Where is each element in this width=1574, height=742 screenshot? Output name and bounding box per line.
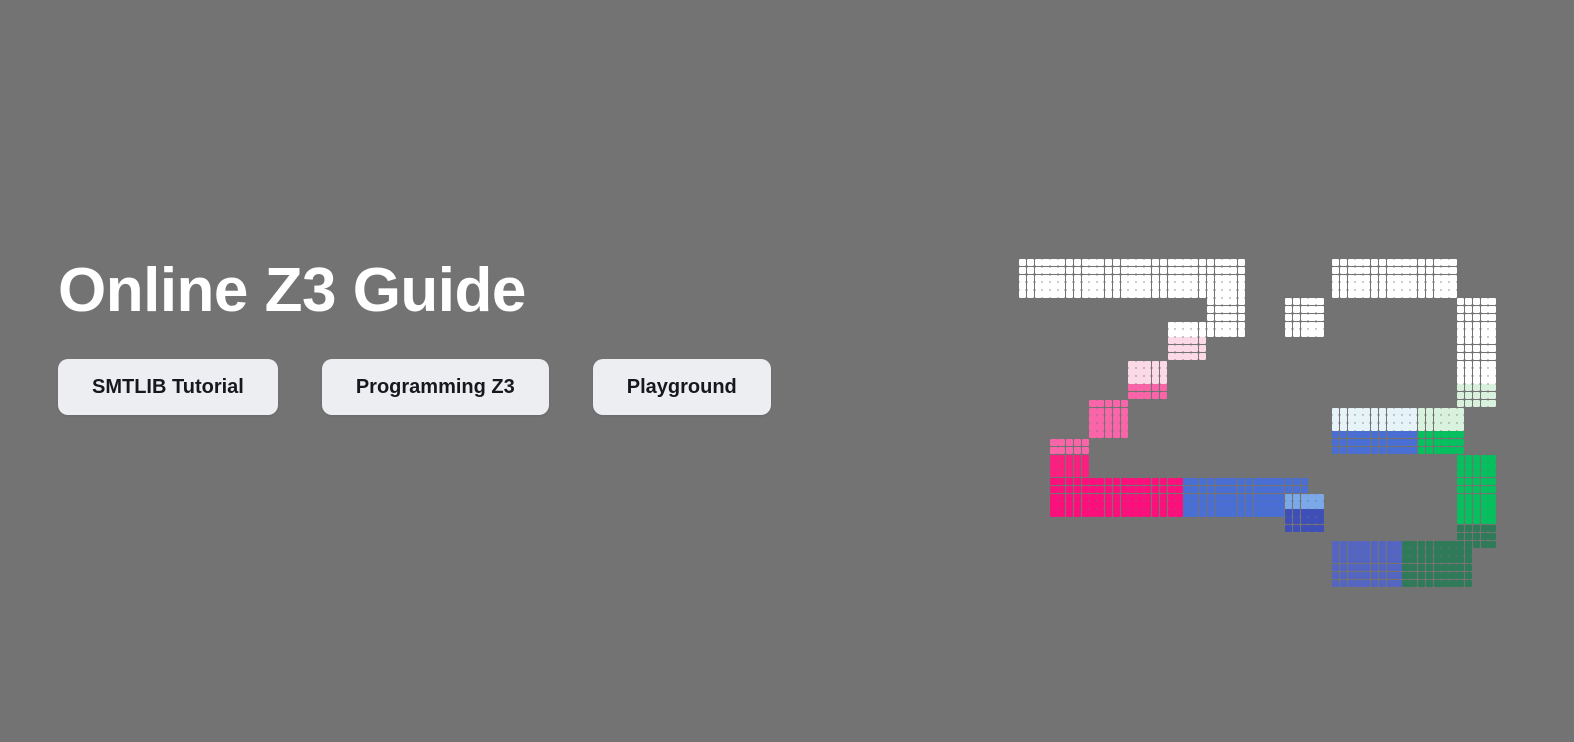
logo-cell — [1426, 580, 1433, 587]
logo-cell — [1058, 259, 1065, 266]
logo-cell — [1074, 455, 1081, 462]
logo-cell — [1449, 447, 1456, 454]
logo-cell — [1488, 322, 1495, 329]
logo-cell — [1441, 282, 1448, 289]
logo-cell — [1121, 290, 1128, 297]
logo-cell — [1371, 275, 1378, 282]
hero-text-column: Online Z3 Guide SMTLIB Tutorial Programm… — [58, 258, 958, 415]
logo-cell — [1465, 470, 1472, 477]
logo-cell — [1074, 501, 1081, 508]
logo-cell — [1128, 478, 1135, 485]
logo-cell — [1473, 400, 1480, 407]
logo-cell — [1199, 275, 1206, 282]
logo-cell — [1418, 541, 1425, 548]
logo-cell — [1410, 259, 1417, 266]
logo-cell — [1027, 282, 1034, 289]
logo-cell — [1222, 275, 1229, 282]
logo-cell — [1394, 564, 1401, 571]
logo-cell — [1410, 267, 1417, 274]
logo-cell — [1348, 290, 1355, 297]
logo-cell — [1215, 509, 1222, 516]
logo-cell — [1019, 275, 1026, 282]
logo-cell — [1113, 423, 1120, 430]
logo-cell — [1434, 548, 1441, 555]
logo-cell — [1238, 306, 1245, 313]
smtlib-tutorial-button[interactable]: SMTLIB Tutorial — [58, 359, 278, 415]
logo-cell — [1434, 282, 1441, 289]
logo-cell — [1465, 298, 1472, 305]
logo-cell — [1481, 470, 1488, 477]
logo-cell — [1465, 572, 1472, 579]
logo-cell — [1387, 447, 1394, 454]
logo-cell — [1144, 267, 1151, 274]
logo-cell — [1238, 267, 1245, 274]
logo-cell — [1402, 541, 1409, 548]
logo-cell — [1426, 564, 1433, 571]
logo-cell — [1465, 329, 1472, 336]
logo-cell — [1457, 509, 1464, 516]
logo-cell — [1394, 275, 1401, 282]
logo-cell — [1481, 509, 1488, 516]
logo-cell — [1136, 478, 1143, 485]
logo-cell — [1418, 275, 1425, 282]
logo-cell — [1481, 361, 1488, 368]
logo-cell — [1465, 478, 1472, 485]
logo-cell — [1410, 282, 1417, 289]
logo-cell — [1019, 290, 1026, 297]
logo-cell — [1128, 384, 1135, 391]
logo-cell — [1168, 345, 1175, 352]
logo-cell — [1121, 478, 1128, 485]
logo-cell — [1152, 275, 1159, 282]
logo-cell — [1449, 408, 1456, 415]
logo-cell — [1074, 290, 1081, 297]
logo-cell — [1355, 548, 1362, 555]
logo-cell — [1332, 290, 1339, 297]
logo-cell — [1379, 423, 1386, 430]
logo-cell — [1191, 322, 1198, 329]
logo-cell — [1097, 275, 1104, 282]
logo-cell — [1340, 259, 1347, 266]
logo-cell — [1355, 447, 1362, 454]
logo-cell — [1128, 275, 1135, 282]
logo-cell — [1160, 290, 1167, 297]
logo-cell — [1441, 541, 1448, 548]
logo-cell — [1402, 548, 1409, 555]
logo-cell — [1363, 548, 1370, 555]
logo-cell — [1457, 455, 1464, 462]
logo-cell — [1082, 439, 1089, 446]
logo-cell — [1230, 314, 1237, 321]
logo-cell — [1105, 275, 1112, 282]
logo-cell — [1371, 541, 1378, 548]
logo-cell — [1363, 556, 1370, 563]
logo-cell — [1332, 541, 1339, 548]
logo-cell — [1457, 368, 1464, 375]
logo-cell — [1426, 290, 1433, 297]
logo-cell — [1066, 447, 1073, 454]
logo-cell — [1457, 384, 1464, 391]
logo-cell — [1402, 259, 1409, 266]
logo-cell — [1355, 556, 1362, 563]
logo-cell — [1488, 376, 1495, 383]
logo-cell — [1175, 290, 1182, 297]
logo-cell — [1144, 486, 1151, 493]
logo-cell — [1426, 431, 1433, 438]
logo-cell — [1371, 259, 1378, 266]
logo-cell — [1410, 447, 1417, 454]
logo-cell — [1481, 322, 1488, 329]
logo-cell — [1387, 431, 1394, 438]
logo-cell — [1457, 541, 1464, 548]
logo-cell — [1316, 509, 1323, 516]
logo-cell — [1473, 298, 1480, 305]
logo-cell — [1379, 431, 1386, 438]
logo-cell — [1488, 455, 1495, 462]
logo-cell — [1441, 572, 1448, 579]
logo-cell — [1113, 290, 1120, 297]
logo-cell — [1191, 337, 1198, 344]
logo-cell — [1308, 501, 1315, 508]
logo-cell — [1082, 462, 1089, 469]
logo-cell — [1074, 259, 1081, 266]
logo-cell — [1340, 556, 1347, 563]
logo-cell — [1160, 392, 1167, 399]
logo-cell — [1441, 267, 1448, 274]
logo-cell — [1473, 353, 1480, 360]
logo-cell — [1371, 548, 1378, 555]
logo-cell — [1121, 501, 1128, 508]
logo-cell — [1168, 478, 1175, 485]
logo-cell — [1097, 486, 1104, 493]
logo-cell — [1183, 509, 1190, 516]
logo-cell — [1191, 259, 1198, 266]
logo-cell — [1035, 267, 1042, 274]
logo-cell — [1332, 282, 1339, 289]
logo-cell — [1050, 494, 1057, 501]
logo-cell — [1441, 580, 1448, 587]
logo-cell — [1348, 580, 1355, 587]
logo-cell — [1449, 572, 1456, 579]
logo-cell — [1082, 282, 1089, 289]
logo-cell — [1222, 494, 1229, 501]
logo-cell — [1066, 501, 1073, 508]
logo-cell — [1050, 259, 1057, 266]
logo-cell — [1488, 314, 1495, 321]
logo-cell — [1348, 572, 1355, 579]
logo-cell — [1066, 259, 1073, 266]
logo-cell — [1402, 439, 1409, 446]
logo-cell — [1418, 267, 1425, 274]
logo-cell — [1097, 478, 1104, 485]
logo-cell — [1136, 501, 1143, 508]
logo-cell — [1238, 290, 1245, 297]
logo-cell — [1254, 494, 1261, 501]
logo-cell — [1387, 259, 1394, 266]
logo-cell — [1027, 275, 1034, 282]
logo-cell — [1465, 517, 1472, 524]
logo-cell — [1481, 306, 1488, 313]
logo-cell — [1238, 275, 1245, 282]
logo-cell — [1183, 501, 1190, 508]
logo-cell — [1301, 314, 1308, 321]
logo-cell — [1316, 517, 1323, 524]
logo-cell — [1066, 509, 1073, 516]
logo-cell — [1465, 376, 1472, 383]
logo-cell — [1175, 494, 1182, 501]
logo-cell — [1457, 314, 1464, 321]
logo-cell — [1128, 259, 1135, 266]
logo-cell — [1465, 556, 1472, 563]
logo-cell — [1363, 267, 1370, 274]
logo-cell — [1418, 564, 1425, 571]
logo-cell — [1168, 353, 1175, 360]
logo-cell — [1410, 415, 1417, 422]
logo-cell — [1363, 408, 1370, 415]
logo-cell — [1348, 267, 1355, 274]
logo-glyph-3 — [1285, 259, 1512, 587]
logo-cell — [1340, 548, 1347, 555]
logo-cell — [1113, 267, 1120, 274]
logo-cell — [1113, 509, 1120, 516]
logo-cell — [1230, 486, 1237, 493]
logo-cell — [1168, 259, 1175, 266]
logo-cell — [1355, 423, 1362, 430]
logo-cell — [1207, 329, 1214, 336]
logo-cell — [1402, 290, 1409, 297]
logo-cell — [1308, 509, 1315, 516]
logo-cell — [1473, 345, 1480, 352]
logo-cell — [1308, 298, 1315, 305]
logo-cell — [1105, 494, 1112, 501]
logo-cell — [1144, 478, 1151, 485]
logo-cell — [1387, 408, 1394, 415]
logo-cell — [1434, 447, 1441, 454]
logo-cell — [1426, 541, 1433, 548]
logo-cell — [1418, 580, 1425, 587]
logo-cell — [1481, 392, 1488, 399]
logo-cell — [1387, 580, 1394, 587]
logo-cell — [1488, 384, 1495, 391]
logo-cell — [1082, 259, 1089, 266]
logo-cell — [1332, 556, 1339, 563]
logo-cell — [1340, 541, 1347, 548]
logo-cell — [1332, 267, 1339, 274]
logo-cell — [1097, 494, 1104, 501]
logo-cell — [1058, 439, 1065, 446]
logo-cell — [1465, 541, 1472, 548]
logo-cell — [1332, 580, 1339, 587]
logo-cell — [1340, 572, 1347, 579]
logo-cell — [1426, 423, 1433, 430]
playground-button[interactable]: Playground — [593, 359, 771, 415]
logo-cell — [1168, 267, 1175, 274]
programming-z3-button[interactable]: Programming Z3 — [322, 359, 549, 415]
logo-cell — [1238, 282, 1245, 289]
logo-cell — [1207, 501, 1214, 508]
logo-cell — [1387, 267, 1394, 274]
logo-cell — [1363, 423, 1370, 430]
logo-cell — [1207, 322, 1214, 329]
logo-cell — [1457, 470, 1464, 477]
logo-cell — [1481, 462, 1488, 469]
logo-cell — [1121, 431, 1128, 438]
logo-cell — [1074, 509, 1081, 516]
logo-cell — [1332, 415, 1339, 422]
logo-cell — [1301, 525, 1308, 532]
logo-cell — [1254, 509, 1261, 516]
logo-cell — [1340, 267, 1347, 274]
logo-cell — [1473, 470, 1480, 477]
logo-cell — [1379, 541, 1386, 548]
logo-cell — [1199, 486, 1206, 493]
logo-cell — [1363, 415, 1370, 422]
logo-cell — [1457, 400, 1464, 407]
logo-cell — [1371, 267, 1378, 274]
logo-cell — [1074, 470, 1081, 477]
logo-cell — [1473, 376, 1480, 383]
logo-cell — [1144, 368, 1151, 375]
logo-cell — [1066, 267, 1073, 274]
logo-cell — [1371, 282, 1378, 289]
logo-cell — [1222, 478, 1229, 485]
logo-cell — [1128, 267, 1135, 274]
logo-cell — [1371, 431, 1378, 438]
logo-cell — [1418, 556, 1425, 563]
logo-cell — [1473, 501, 1480, 508]
logo-cell — [1434, 259, 1441, 266]
logo-cell — [1457, 462, 1464, 469]
logo-cell — [1215, 322, 1222, 329]
logo-cell — [1215, 290, 1222, 297]
logo-cell — [1261, 486, 1268, 493]
logo-cell — [1261, 478, 1268, 485]
logo-cell — [1050, 509, 1057, 516]
logo-cell — [1402, 415, 1409, 422]
logo-cell — [1457, 525, 1464, 532]
logo-cell — [1332, 408, 1339, 415]
logo-cell — [1105, 478, 1112, 485]
logo-cell — [1387, 564, 1394, 571]
logo-cell — [1222, 322, 1229, 329]
logo-cell — [1113, 486, 1120, 493]
logo-cell — [1363, 290, 1370, 297]
logo-cell — [1222, 486, 1229, 493]
logo-cell — [1136, 494, 1143, 501]
logo-cell — [1363, 572, 1370, 579]
logo-cell — [1183, 275, 1190, 282]
logo-cell — [1371, 408, 1378, 415]
logo-cell — [1113, 415, 1120, 422]
logo-cell — [1402, 431, 1409, 438]
logo-glyph-z — [1019, 259, 1246, 587]
logo-cell — [1121, 415, 1128, 422]
logo-cell — [1293, 298, 1300, 305]
logo-cell — [1136, 259, 1143, 266]
logo-cell — [1465, 314, 1472, 321]
logo-cell — [1473, 478, 1480, 485]
logo-cell — [1089, 275, 1096, 282]
logo-cell — [1402, 282, 1409, 289]
logo-cell — [1348, 431, 1355, 438]
logo-cell — [1035, 290, 1042, 297]
logo-cell — [1418, 408, 1425, 415]
logo-cell — [1340, 415, 1347, 422]
logo-cell — [1465, 384, 1472, 391]
logo-cell — [1066, 478, 1073, 485]
logo-cell — [1199, 290, 1206, 297]
logo-cell — [1394, 290, 1401, 297]
logo-cell — [1434, 541, 1441, 548]
logo-cell — [1121, 275, 1128, 282]
logo-cell — [1387, 275, 1394, 282]
logo-cell — [1136, 392, 1143, 399]
logo-cell — [1387, 439, 1394, 446]
logo-cell — [1215, 501, 1222, 508]
logo-cell — [1426, 259, 1433, 266]
logo-cell — [1308, 329, 1315, 336]
logo-cell — [1175, 259, 1182, 266]
logo-cell — [1465, 533, 1472, 540]
logo-cell — [1183, 322, 1190, 329]
logo-cell — [1441, 439, 1448, 446]
logo-cell — [1058, 462, 1065, 469]
logo-cell — [1207, 494, 1214, 501]
logo-cell — [1144, 384, 1151, 391]
logo-cell — [1355, 259, 1362, 266]
logo-cell — [1340, 564, 1347, 571]
logo-cell — [1097, 415, 1104, 422]
logo-cell — [1441, 423, 1448, 430]
logo-cell — [1481, 384, 1488, 391]
logo-cell — [1473, 314, 1480, 321]
logo-cell — [1136, 290, 1143, 297]
logo-cell — [1035, 275, 1042, 282]
logo-cell — [1160, 282, 1167, 289]
logo-cell — [1481, 501, 1488, 508]
logo-cell — [1457, 580, 1464, 587]
logo-cell — [1301, 494, 1308, 501]
logo-cell — [1144, 392, 1151, 399]
logo-cell — [1473, 384, 1480, 391]
logo-cell — [1340, 580, 1347, 587]
logo-cell — [1183, 337, 1190, 344]
logo-cell — [1152, 259, 1159, 266]
logo-cell — [1097, 501, 1104, 508]
logo-cell — [1058, 501, 1065, 508]
logo-cell — [1113, 431, 1120, 438]
logo-cell — [1465, 486, 1472, 493]
logo-cell — [1457, 494, 1464, 501]
logo-cell — [1128, 509, 1135, 516]
logo-cell — [1387, 290, 1394, 297]
logo-cell — [1394, 408, 1401, 415]
logo-cell — [1152, 384, 1159, 391]
logo-cell — [1082, 455, 1089, 462]
logo-cell — [1050, 478, 1057, 485]
logo-cell — [1481, 345, 1488, 352]
logo-cell — [1488, 509, 1495, 516]
logo-cell — [1191, 486, 1198, 493]
logo-cell — [1394, 556, 1401, 563]
logo-cell — [1363, 282, 1370, 289]
logo-cell — [1136, 282, 1143, 289]
logo-cell — [1113, 275, 1120, 282]
logo-cell — [1175, 322, 1182, 329]
logo-cell — [1207, 314, 1214, 321]
logo-cell — [1168, 509, 1175, 516]
logo-cell — [1269, 486, 1276, 493]
